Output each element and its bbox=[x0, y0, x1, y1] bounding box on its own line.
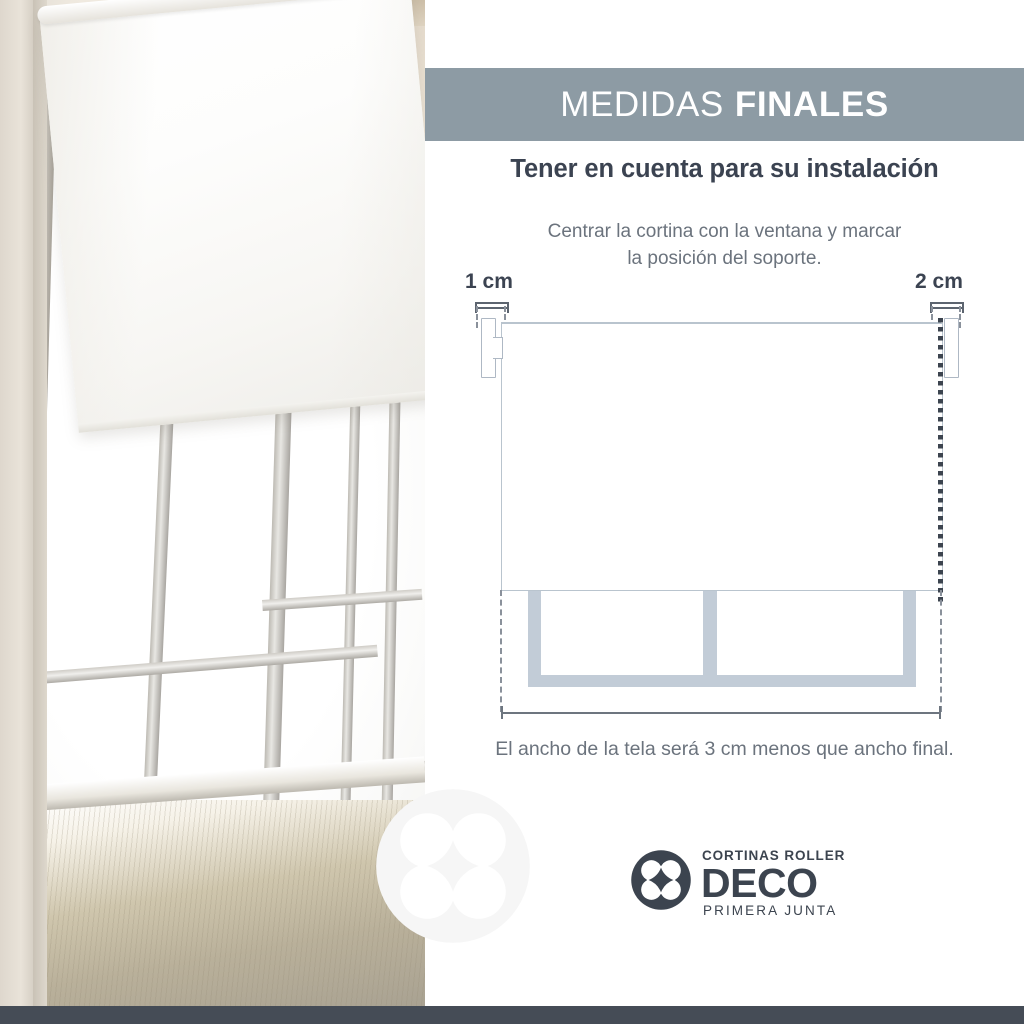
brand-tagline-bottom: PRIMERA JUNTA bbox=[703, 903, 837, 918]
roller-shade-group bbox=[0, 0, 425, 467]
product-photo bbox=[0, 0, 425, 1006]
brand-name: DECO bbox=[701, 861, 817, 905]
blind-fabric bbox=[501, 323, 943, 591]
total-width-guide-right bbox=[940, 590, 942, 712]
blind-roller-line bbox=[501, 322, 941, 323]
total-width-guide-left bbox=[500, 590, 502, 712]
total-width-tick-right bbox=[939, 706, 941, 719]
deco-flower-icon bbox=[630, 849, 692, 911]
shade-fabric bbox=[39, 0, 425, 433]
guide-right-b bbox=[959, 306, 961, 328]
window-frame-center-stile bbox=[703, 588, 717, 686]
control-chain bbox=[938, 318, 943, 606]
total-width-tick-left bbox=[501, 706, 503, 719]
bottom-note: El ancho de la tela será 3 cm menos que … bbox=[425, 738, 1024, 761]
watermark-logo-icon bbox=[373, 786, 533, 946]
brand-logo: CORTINAS ROLLER DECO PRIMERA JUNTA bbox=[630, 845, 845, 917]
window-frame-left-stile bbox=[528, 588, 541, 686]
bracket-right bbox=[944, 318, 959, 378]
shade-fabric-shading bbox=[39, 0, 425, 433]
total-width-line bbox=[501, 712, 941, 714]
guide-left-a bbox=[476, 306, 478, 328]
window-frame-sill bbox=[528, 675, 916, 687]
bracket-left-tab bbox=[493, 337, 503, 359]
footer-bar bbox=[0, 1006, 1024, 1024]
floor-texture bbox=[0, 800, 425, 1006]
window-frame-right-stile bbox=[903, 588, 916, 686]
poster: MEDIDAS FINALES Tener en cuenta para su … bbox=[0, 0, 1024, 1024]
info-panel: MEDIDAS FINALES Tener en cuenta para su … bbox=[425, 0, 1024, 1006]
brand-logo-text: CORTINAS ROLLER DECO PRIMERA JUNTA bbox=[702, 845, 847, 917]
